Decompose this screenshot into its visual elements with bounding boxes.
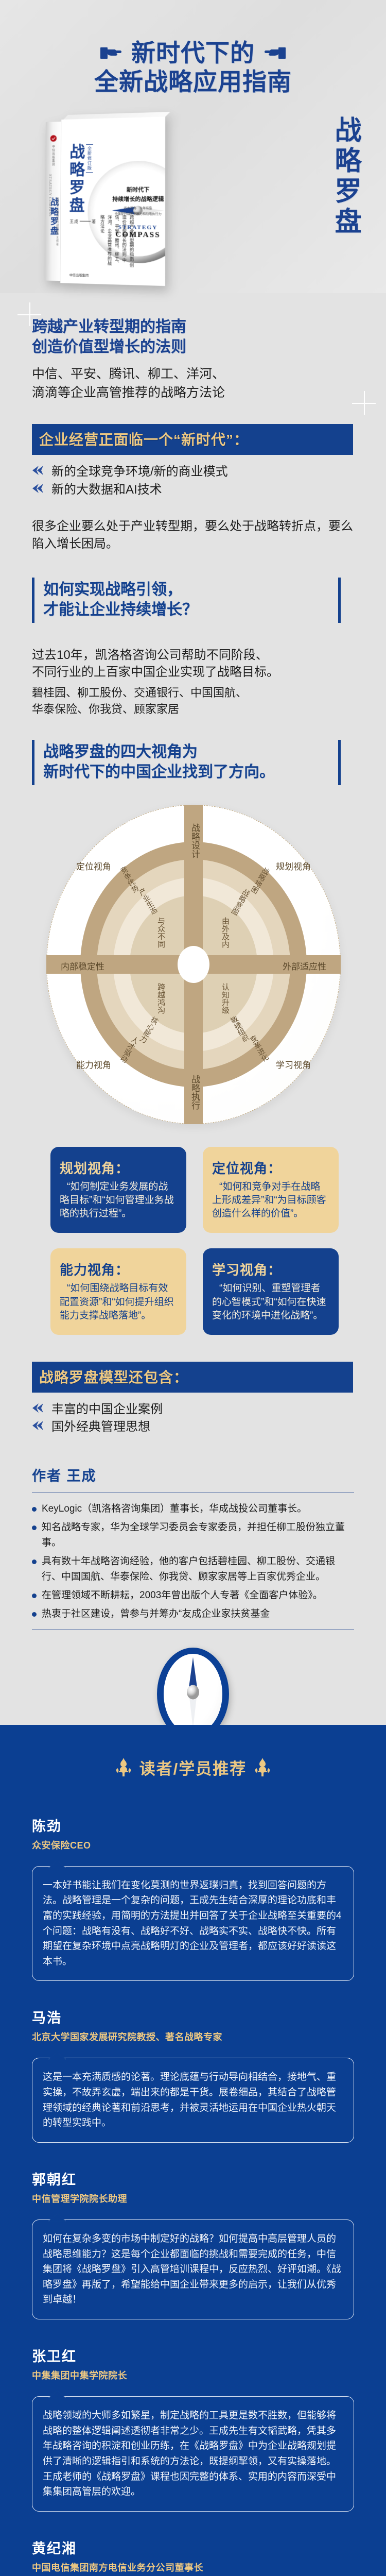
card-body: “如何制定业务发展的战略目标”和“如何管理业务战略的执行过程”。 <box>60 1180 177 1221</box>
bullet-list-new-era: 新的全球竞争环境/新的商业模式 新的大数据和AI技术 <box>32 464 386 497</box>
diagram-perspective-capability: 能力视角 <box>76 1058 111 1071</box>
list-item: 丰富的中国企业案例 <box>32 1402 386 1417</box>
list-item-label: 知名战略专家，华为全球学习委员会专家委员，并担任柳工股份独立董事。 <box>42 1520 354 1551</box>
testimonial-text: 战略领域的大师多如繁星，制定战略的工具更是数不胜数，但能够将战略的整体逻辑阐述透… <box>43 2408 343 2500</box>
cover-english-line2: COMPASS <box>115 230 160 240</box>
track-record-line2: 不同行业的上百家中国企业实现了战略目标。 <box>32 664 354 681</box>
card-learning-perspective: 学习视角： “如何识别、重塑管理者的心智模式”和“如何在快速变化的环境中进化战略… <box>203 1248 339 1335</box>
card-title: 规划视角： <box>60 1158 177 1177</box>
cover-title: 战略罗盘 <box>68 144 84 215</box>
list-item: 新的大数据和AI技术 <box>32 482 386 497</box>
lead-blue-line2: 创造价值型增长的法则 <box>0 337 386 357</box>
divider <box>32 1629 354 1630</box>
hero-section: 新时代下的 全新战略应用指南 中信出版集团 STRATE <box>0 0 386 293</box>
diagram-axis-left: 内部稳定性 <box>61 959 104 972</box>
book-3d-mockup: 中信出版集团 STRATEGY COMPASS 战略罗盘 新时代下持续增长的战略… <box>45 117 165 286</box>
compass-needle-icon <box>183 1654 203 1734</box>
client-list-line2: 华泰保险、你我贷、顾家家居 <box>32 701 354 717</box>
client-list-line1: 碧桂园、柳工股份、交通银行、中国国航、 <box>32 685 354 701</box>
strategy-compass-diagram: 战略设计 战略执行 内部稳定性 外部适应性 定位视角 规划视角 能力视角 学习视… <box>0 800 386 1129</box>
decor-cross-icon <box>352 391 376 415</box>
hero-title-line1: 新时代下的 <box>131 40 255 66</box>
testimonial-text: 这是一本充满质感的论著。理论底蕴与行动导向相结合，接地气、重实操，不故弄玄虚，端… <box>43 2070 343 2131</box>
list-item: 国外经典管理思想 <box>32 1419 386 1434</box>
spine-publisher: 中信出版集团 <box>51 145 56 166</box>
ribbon-model-includes: 战略罗盘模型还包含： <box>32 1362 353 1393</box>
diagram-axis-top: 战略设计 <box>188 823 201 858</box>
fleur-de-lis-icon <box>116 1758 131 1776</box>
bullet-list-model-includes: 丰富的中国企业案例 国外经典管理思想 <box>32 1402 386 1435</box>
testimonial-role: 中国电信集团南方电信业务分公司董事长 <box>32 2561 354 2574</box>
diagram-ring-label-cognitive-upgrade: 认知升级 <box>220 983 231 1014</box>
cover-note-1: 四大视角、十年结晶 <box>99 206 165 210</box>
list-item: 热衷于社区建设，曾参与并筹办“友成企业家扶贫基金 <box>32 1606 354 1622</box>
lead-copy-section: 跨越产业转型期的指南 创造价值型增长的法则 中信、平安、腾讯、柳工、洋河、 滴滴… <box>0 293 386 401</box>
arrow-bullet-icon <box>32 482 45 495</box>
list-item: KeyLogic（凯洛格咨询集团）董事长，华成战投公司董事长。 <box>32 1501 354 1517</box>
dot-bullet-icon <box>32 1612 37 1617</box>
list-item-label: 具有数十年战略咨询经验，他的客户包括碧桂园、柳工股份、交通银行、中国国航、华泰保… <box>42 1554 354 1585</box>
testimonial-bubble: 如何在复杂多变的市场中制定好的战略？如何提高中高层管理人员的战略思维能力？这是每… <box>32 2219 354 2319</box>
testimonial-name: 黄纪湘 <box>32 2537 354 2557</box>
diagram-perspective-planning: 规划视角 <box>276 859 311 872</box>
pointing-hand-left-icon <box>262 45 286 61</box>
bracket2-line2: 新时代下的中国企业找到了方向。 <box>43 762 329 782</box>
ribbon-new-era: 企业经营正面临一个“新时代”： <box>32 424 353 455</box>
arrow-bullet-icon <box>32 1402 45 1414</box>
compass-icon-area <box>0 1648 386 1725</box>
diagram-axis-right: 外部适应性 <box>283 959 326 972</box>
dot-bullet-icon <box>32 1594 37 1598</box>
card-positioning-perspective: 定位视角： “如何和竞争对手在战略上形成差异”和“为目标顾客创造什么样的价值”。 <box>203 1147 339 1233</box>
testimonial-role: 中信管理学院院长助理 <box>32 2192 354 2205</box>
cover-note-2: 全面提升战略洞察力和战略执行力 <box>99 211 165 216</box>
decor-cross-icon <box>17 302 41 326</box>
arrow-bullet-icon <box>32 1419 45 1432</box>
testimonial-name: 陈劲 <box>32 1815 354 1835</box>
divider <box>32 1492 354 1493</box>
bracket-line2: 才能让企业持续增长？ <box>43 600 329 620</box>
cover-author-suffix: 著 <box>92 219 96 224</box>
testimonial-name: 郭朝红 <box>32 2168 354 2189</box>
card-body: “如何识别、重塑管理者的心智模式”和“如何在快速变化的环境中进化战略”。 <box>212 1282 329 1323</box>
card-planning-perspective: 规划视角： “如何制定业务发展的战略目标”和“如何管理业务战略的执行过程”。 <box>50 1147 186 1233</box>
testimonial-name: 张卫红 <box>32 2345 354 2365</box>
list-item-label: 新的大数据和AI技术 <box>51 482 162 497</box>
cover-publisher: 中信出版集团 <box>69 273 89 278</box>
band-title: 读者/学员推荐 <box>0 1756 386 1779</box>
pointing-hand-right-icon <box>100 45 124 61</box>
testimonial-bubble: 战略领域的大师多如繁星，制定战略的工具更是数不胜数，但能够将战略的整体逻辑阐述透… <box>32 2396 354 2512</box>
testimonial-name: 马浩 <box>32 2007 354 2027</box>
card-title: 学习视角： <box>212 1260 329 1279</box>
testimonial: 张卫红 中集集团中集学院院长 战略领域的大师多如繁星，制定战略的工具更是数不胜数… <box>32 2345 354 2512</box>
list-item-label: 新的全球竞争环境/新的商业模式 <box>51 464 228 479</box>
testimonial: 黄纪湘 中国电信集团南方电信业务分公司董事长 2013年，本人荣幸于与凯洛格相识… <box>32 2537 354 2576</box>
author-bio-list: KeyLogic（凯洛格咨询集团）董事长，华成战投公司董事长。 知名战略专家，华… <box>32 1501 354 1622</box>
diagram-ring-label-outside-in: 由外及内 <box>220 917 231 948</box>
author-heading: 作者 王成 <box>32 1465 386 1485</box>
card-capability-perspective: 能力视角： “如何围绕战略目标有效配置资源”和“如何提升组织能力支撑战略落地”。 <box>50 1248 186 1335</box>
testimonial-role: 众安保险CEO <box>32 1838 354 1852</box>
list-item: 在管理领域不断耕耘，2003年曾出版个人专著《全面客户体验》。 <box>32 1588 354 1603</box>
cover-headline: 新时代下 <box>99 185 165 194</box>
cover-edition-badge: 全新修订版 <box>86 144 93 173</box>
hero-title-block: 新时代下的 全新战略应用指南 <box>0 40 386 95</box>
list-item: 新的全球竞争环境/新的商业模式 <box>32 464 386 479</box>
card-title: 定位视角： <box>212 1158 329 1177</box>
testimonial-role: 中集集团中集学院院长 <box>32 2368 354 2382</box>
testimonial-text: 一本好书能让我们在变化莫测的世界返璞归真，找到回答问题的方法。战略管理是一个复杂… <box>43 1878 343 1970</box>
cover-subhead: 持续增长的战略逻辑 <box>99 195 165 203</box>
perspective-cards: 规划视角： “如何制定业务发展的战略目标”和“如何管理业务战略的执行过程”。 定… <box>50 1147 339 1335</box>
bracket2-line1: 战略罗盘的四大视角为 <box>43 742 329 762</box>
spine-subtitle: 新时代下持续增长的战略逻辑 王成 著 <box>56 197 59 246</box>
dot-bullet-icon <box>32 1560 37 1564</box>
testimonial: 郭朝红 中信管理学院院长助理 如何在复杂多变的市场中制定好的战略？如何提高中高层… <box>32 2168 354 2319</box>
reader-recommendation-section: 读者/学员推荐 陈劲 众安保险CEO 一本好书能让我们在变化莫测的世界返璞归真，… <box>0 1725 386 2576</box>
publisher-logo-icon <box>50 135 57 142</box>
list-item-label: 在管理领域不断耕耘，2003年曾出版个人专著《全面客户体验》。 <box>42 1588 323 1603</box>
list-item-label: 丰富的中国企业案例 <box>51 1402 163 1417</box>
testimonial-text: 如何在复杂多变的市场中制定好的战略？如何提高中高层管理人员的战略思维能力？这是每… <box>43 2231 343 2308</box>
list-item-label: KeyLogic（凯洛格咨询集团）董事长，华成战投公司董事长。 <box>42 1501 307 1517</box>
lead-black-line1: 中信、平安、腾讯、柳工、洋河、 <box>0 365 386 383</box>
diagram-axis-bottom: 战略执行 <box>188 1075 201 1110</box>
list-item: 具有数十年战略咨询经验，他的客户包括碧桂园、柳工股份、交通银行、中国国航、华泰保… <box>32 1554 354 1585</box>
list-item: 知名战略专家，华为全球学习委员会专家委员，并担任柳工股份独立董事。 <box>32 1520 354 1551</box>
author-section: 作者 王成 KeyLogic（凯洛格咨询集团）董事长，华成战投公司董事长。 知名… <box>0 1465 386 1630</box>
bracket-headline-four-perspectives: 战略罗盘的四大视角为 新时代下的中国企业找到了方向。 <box>32 739 341 786</box>
testimonial: 陈劲 众安保险CEO 一本好书能让我们在变化莫测的世界返璞归真，找到回答问题的方… <box>32 1815 354 1981</box>
diagram-ring-label-crossing-chasm: 跨越鸿沟 <box>155 983 166 1014</box>
hero-title-line2: 全新战略应用指南 <box>0 69 386 96</box>
cover-author-name: 王成 <box>69 219 78 224</box>
hero-vertical-title: 战略罗盘 <box>332 116 358 238</box>
diagram-perspective-positioning: 定位视角 <box>76 859 111 872</box>
card-title: 能力视角： <box>60 1260 177 1279</box>
cover-author: 王成著 <box>69 219 96 225</box>
bracket-headline-strategy-lead: 如何实现战略引领， 才能让企业持续增长？ <box>32 577 341 624</box>
promo-page: 新时代下的 全新战略应用指南 中信出版集团 STRATE <box>0 0 386 2576</box>
testimonial-bubble: 这是一本充满质感的论著。理论底蕴与行动导向相结合，接地气、重实操，不故弄玄虚，端… <box>32 2058 354 2143</box>
testimonial-bubble: 一本好书能让我们在变化莫测的世界返璞归真，找到回答问题的方法。战略管理是一个复杂… <box>32 1866 354 1981</box>
lead-black-line2: 滴滴等企业高管推荐的战略方法论 <box>0 384 386 401</box>
bracket-line1: 如何实现战略引领， <box>43 580 329 600</box>
diagram-perspective-learning: 学习视角 <box>276 1058 311 1071</box>
list-item-label: 热衷于社区建设，曾参与并筹办“友成企业家扶贫基金 <box>42 1606 270 1622</box>
diagram-hub <box>178 946 209 983</box>
dot-bullet-icon <box>32 1507 37 1512</box>
diagram-ring-label-differentiation: 与众不同 <box>155 917 166 948</box>
arrow-bullet-icon <box>32 464 45 477</box>
ribbon-model-includes-text: 战略罗盘模型还包含： <box>39 1366 346 1387</box>
card-body: “如何和竞争对手在战略上形成差异”和“为目标顾客创造什么样的价值”。 <box>212 1180 329 1221</box>
paragraph-keylogic-track-record: 过去10年，凯洛格咨询公司帮助不同阶段、 不同行业的上百家中国企业实现了战略目标… <box>32 647 354 717</box>
dot-bullet-icon <box>32 1526 37 1530</box>
track-record-line1: 过去10年，凯洛格咨询公司帮助不同阶段、 <box>32 647 354 664</box>
band-title-text: 读者/学员推荐 <box>139 1756 247 1779</box>
paragraph-growth-dilemma: 很多企业要么处于产业转型期，要么处于战略转折点，要么陷入增长困局。 <box>32 518 354 553</box>
book-mockup-area: 中信出版集团 STRATEGY COMPASS 战略罗盘 新时代下持续增长的战略… <box>0 118 386 293</box>
book-front-cover: 新时代下 持续增长的战略逻辑 四大视角、十年结晶 全面提升战略洞察力和战略执行力… <box>60 117 165 286</box>
book-spine: 中信出版集团 STRATEGY COMPASS 战略罗盘 新时代下持续增长的战略… <box>45 122 62 281</box>
ribbon-new-era-text: 企业经营正面临一个“新时代”： <box>39 429 346 449</box>
testimonial-role: 北京大学国家发展研究院教授、著名战略专家 <box>32 2030 354 2043</box>
lead-blue-line1: 跨越产业转型期的指南 <box>0 317 386 337</box>
list-item-label: 国外经典管理思想 <box>51 1419 150 1434</box>
fleur-de-lis-icon <box>255 1758 270 1776</box>
cover-vertical-copy: 跨越产业转型期的指南 创造价值型增长的法则 中信、平安、腾讯、柳工、洋河、企业高… <box>99 215 136 269</box>
card-body: “如何围绕战略目标有效配置资源”和“如何提升组织能力支撑战略落地”。 <box>60 1282 177 1323</box>
testimonial: 马浩 北京大学国家发展研究院教授、著名战略专家 这是一本充满质感的论著。理论底蕴… <box>32 2007 354 2143</box>
